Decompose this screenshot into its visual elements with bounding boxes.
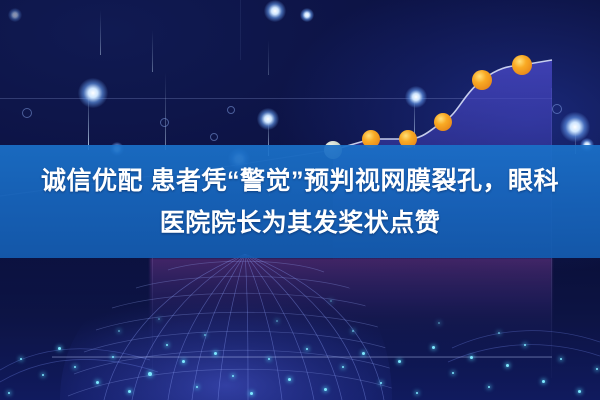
particle bbox=[452, 372, 454, 374]
particle bbox=[8, 392, 10, 394]
particle bbox=[398, 360, 401, 363]
particle bbox=[498, 332, 500, 334]
particle bbox=[362, 352, 365, 355]
particle bbox=[470, 356, 473, 359]
screenshot-canvas: 诚信优配 患者凭“警觉”预判视网膜裂孔，眼科 医院院长为其发奖状点赞 bbox=[0, 0, 600, 400]
particle bbox=[128, 390, 131, 393]
particle bbox=[288, 378, 291, 381]
particle bbox=[352, 330, 354, 332]
particle bbox=[112, 356, 114, 358]
chart-marker bbox=[472, 70, 492, 90]
particle bbox=[118, 330, 120, 332]
particle bbox=[542, 380, 545, 383]
dome-fill bbox=[60, 254, 392, 400]
particle bbox=[96, 381, 99, 384]
particle bbox=[58, 347, 61, 350]
particle bbox=[158, 318, 160, 320]
particle bbox=[232, 375, 234, 377]
particle bbox=[148, 372, 152, 376]
chart-marker bbox=[512, 55, 532, 75]
particle bbox=[166, 344, 168, 346]
particle bbox=[342, 366, 344, 368]
particle bbox=[324, 388, 327, 391]
particle bbox=[214, 352, 217, 355]
particle bbox=[432, 346, 435, 349]
particle bbox=[380, 382, 382, 384]
headline-banner: 诚信优配 患者凭“警觉”预判视网膜裂孔，眼科 医院院长为其发奖状点赞 bbox=[0, 145, 600, 258]
particle bbox=[306, 348, 308, 350]
particle bbox=[74, 366, 76, 368]
particle bbox=[560, 358, 562, 360]
particle bbox=[182, 360, 185, 363]
particle bbox=[330, 300, 332, 302]
particle bbox=[596, 368, 598, 370]
particle bbox=[250, 392, 253, 395]
particle bbox=[524, 344, 526, 346]
particle bbox=[438, 322, 440, 324]
particle bbox=[268, 358, 270, 360]
chart-marker bbox=[434, 113, 452, 131]
headline-line-2: 医院院长为其发奖状点赞 bbox=[160, 203, 441, 243]
headline-line-1: 诚信优配 患者凭“警觉”预判视网膜裂孔，眼科 bbox=[41, 161, 559, 201]
particle bbox=[196, 386, 198, 388]
particle bbox=[42, 374, 44, 376]
particle bbox=[20, 358, 22, 360]
particle bbox=[578, 390, 581, 393]
particle bbox=[416, 392, 418, 394]
particle bbox=[488, 386, 490, 388]
headline-banner-content: 诚信优配 患者凭“警觉”预判视网膜裂孔，眼科 医院院长为其发奖状点赞 bbox=[0, 145, 600, 258]
particle bbox=[276, 320, 278, 322]
particle bbox=[506, 364, 509, 367]
particle bbox=[204, 334, 206, 336]
